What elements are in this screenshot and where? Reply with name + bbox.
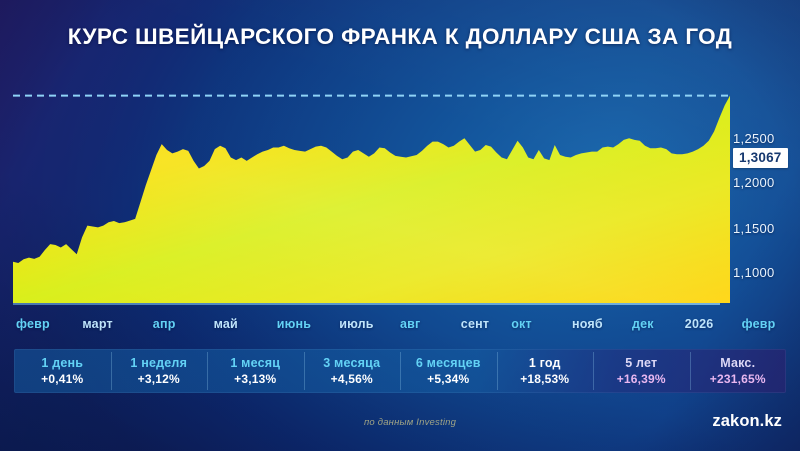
y-tick-label-4: 1,1000: [733, 265, 775, 280]
x-axis-label-9: нояб: [572, 317, 603, 331]
x-axis-label-10: дек: [632, 317, 654, 331]
y-tick-label-2: 1,2000: [733, 175, 775, 190]
current-value-badge: 1,3067: [733, 148, 788, 168]
period-cell-3[interactable]: 3 месяца+4,56%: [304, 349, 401, 393]
period-change-value: +231,65%: [710, 372, 766, 386]
brand-logo: zakon.kz: [712, 412, 782, 431]
period-label: 1 месяц: [230, 356, 280, 370]
period-change-value: +16,39%: [617, 372, 666, 386]
chart-area: 1,3067 1,2500 1,2000 1,1500 1,1000: [0, 70, 800, 310]
period-label: 3 месяца: [323, 356, 380, 370]
x-axis-label-5: июль: [339, 317, 373, 331]
period-label: 5 лет: [625, 356, 657, 370]
x-axis-label-8: окт: [511, 317, 532, 331]
source-note: по данным Investing: [364, 417, 456, 428]
period-cell-2[interactable]: 1 месяц+3,13%: [207, 349, 304, 393]
x-axis-label-11: 2026: [685, 317, 714, 331]
infographic-page: КУРС ШВЕЙЦАРСКОГО ФРАНКА К ДОЛЛАРУ США З…: [0, 0, 800, 451]
period-label: Макс.: [720, 356, 755, 370]
period-label: 1 день: [41, 356, 83, 370]
x-axis-label-4: июнь: [277, 317, 311, 331]
period-label: 6 месяцев: [416, 356, 481, 370]
page-title: КУРС ШВЕЙЦАРСКОГО ФРАНКА К ДОЛЛАРУ США З…: [0, 24, 800, 50]
period-change-value: +4,56%: [331, 372, 373, 386]
period-change-value: +18,53%: [520, 372, 569, 386]
period-cell-4[interactable]: 6 месяцев+5,34%: [400, 349, 497, 393]
x-axis-baseline: [13, 303, 720, 305]
x-axis-label-3: май: [214, 317, 238, 331]
period-change-value: +0,41%: [41, 372, 83, 386]
period-change-table: 1 день+0,41%1 неделя+3,12%1 месяц+3,13%3…: [14, 349, 786, 393]
x-axis-label-1: март: [82, 317, 112, 331]
x-axis-label-6: авг: [400, 317, 420, 331]
y-tick-label-3: 1,1500: [733, 221, 775, 236]
period-cell-0[interactable]: 1 день+0,41%: [14, 349, 111, 393]
price-area-chart: [0, 70, 800, 310]
period-cell-1[interactable]: 1 неделя+3,12%: [111, 349, 208, 393]
period-change-value: +3,13%: [234, 372, 276, 386]
period-cell-7[interactable]: Макс.+231,65%: [690, 349, 787, 393]
x-axis-label-0: февр: [16, 317, 50, 331]
x-axis-label-12: февр: [742, 317, 776, 331]
x-axis-label-7: сент: [461, 317, 489, 331]
x-axis-month-labels: феврмартапрмайиюньиюльавгсентоктноябдек2…: [0, 317, 800, 339]
x-axis-label-2: апр: [153, 317, 176, 331]
y-tick-label-1: 1,2500: [733, 131, 775, 146]
period-change-value: +5,34%: [427, 372, 469, 386]
period-cell-5[interactable]: 1 год+18,53%: [497, 349, 594, 393]
period-cell-6[interactable]: 5 лет+16,39%: [593, 349, 690, 393]
period-change-value: +3,12%: [138, 372, 180, 386]
period-label: 1 неделя: [130, 356, 187, 370]
area-series-sheen: [13, 96, 730, 303]
period-label: 1 год: [529, 356, 561, 370]
chart-plot-group: [13, 96, 730, 303]
